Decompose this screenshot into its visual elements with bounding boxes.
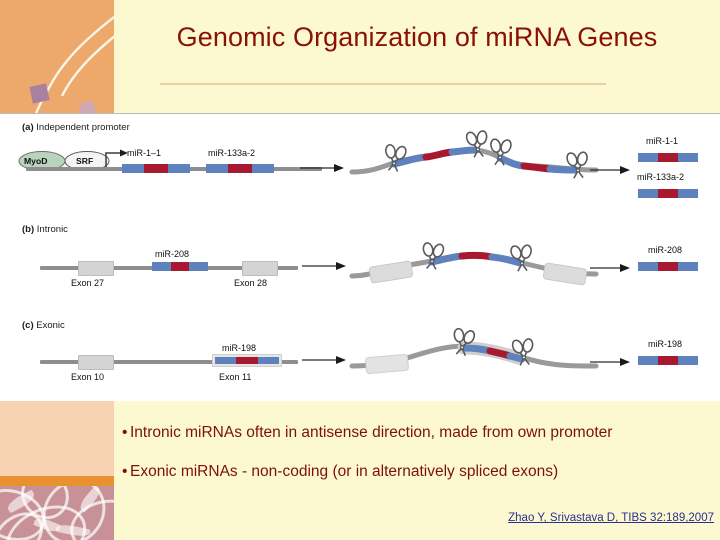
mirna-flank-left bbox=[215, 357, 236, 364]
slide-canvas: Genomic Organization of miRNA Genes (a) bbox=[0, 0, 720, 540]
ribbon-decoration bbox=[14, 8, 114, 116]
bullet-list: •Intronic miRNAs often in antisense dire… bbox=[122, 424, 712, 502]
pri-mirna-transcript-a bbox=[348, 120, 616, 196]
mirna-flank-left bbox=[206, 164, 228, 173]
product-flank-right bbox=[678, 356, 698, 365]
exon-block-28 bbox=[242, 261, 278, 276]
panel-c-heading: (c) Exonic bbox=[22, 320, 65, 331]
product-flank-left bbox=[638, 356, 658, 365]
product-core bbox=[658, 153, 678, 162]
factor-label-srf: SRF bbox=[76, 156, 93, 166]
panel-a-title: Independent promoter bbox=[36, 122, 129, 133]
product-arrow-b-icon bbox=[590, 262, 634, 274]
product-flank-right bbox=[678, 262, 698, 271]
panel-c-title: Exonic bbox=[36, 320, 65, 331]
product-label-mir-208: miR-208 bbox=[648, 245, 682, 255]
exon-label-11: Exon 11 bbox=[219, 372, 251, 382]
mirna-flank-right bbox=[258, 357, 279, 364]
product-block-mir-133a-2 bbox=[638, 189, 698, 198]
panel-a-tag: (a) bbox=[22, 122, 34, 133]
product-flank-right bbox=[678, 153, 698, 162]
mirna-core bbox=[144, 164, 168, 173]
mirna-block-mir-198 bbox=[212, 354, 282, 367]
mirna-core bbox=[236, 357, 257, 364]
product-block-mir-208 bbox=[638, 262, 698, 271]
product-core bbox=[658, 356, 678, 365]
mirna-flank-right bbox=[168, 164, 190, 173]
process-arrow-b-icon bbox=[302, 260, 350, 272]
product-block-mir-198 bbox=[638, 356, 698, 365]
product-arrow-a-icon bbox=[590, 164, 634, 176]
product-flank-left bbox=[638, 153, 658, 162]
product-label-mir-133a-2: miR-133a-2 bbox=[637, 172, 684, 182]
product-flank-left bbox=[638, 262, 658, 271]
factor-label-myod: MyoD bbox=[24, 156, 47, 166]
panel-b-heading: (b) Intronic bbox=[22, 224, 68, 235]
gene-label-mir-208: miR-208 bbox=[155, 249, 189, 259]
bullet-marker: • bbox=[122, 424, 130, 442]
citation-link[interactable]: Zhao Y, Srivastava D, TIBS 32:189,2007 bbox=[0, 512, 714, 524]
exon-block-27 bbox=[78, 261, 114, 276]
process-arrow-c-icon bbox=[302, 354, 350, 366]
mirna-block-mir-1-1 bbox=[122, 164, 190, 173]
mirna-flank-left bbox=[122, 164, 144, 173]
mirna-flank-right bbox=[252, 164, 274, 173]
product-core bbox=[658, 189, 678, 198]
mirna-flank-right bbox=[189, 262, 208, 271]
exon-block-10 bbox=[78, 355, 114, 370]
figure-panel: (a) Independent promoter MyoD SRF miR-1–… bbox=[0, 113, 720, 401]
product-label-mir-198: miR-198 bbox=[648, 339, 682, 349]
product-flank-left bbox=[638, 189, 658, 198]
exon-label-28: Exon 28 bbox=[234, 278, 267, 288]
panel-b-tag: (b) bbox=[22, 224, 34, 235]
bullet-text: Exonic miRNAs - non-coding (or in altern… bbox=[130, 463, 558, 480]
panel-b-title: Intronic bbox=[37, 224, 68, 235]
bullet-item: •Intronic miRNAs often in antisense dire… bbox=[122, 424, 712, 442]
bullet-text: Intronic miRNAs often in antisense direc… bbox=[130, 424, 612, 441]
bullet-marker: • bbox=[122, 463, 130, 481]
product-label-mir-1-1: miR-1-1 bbox=[646, 136, 678, 146]
gene-label-mir-1-1: miR-1–1 bbox=[127, 148, 161, 158]
bullet-item: •Exonic miRNAs - non-coding (or in alter… bbox=[122, 463, 712, 481]
process-arrow-a-icon bbox=[300, 162, 348, 174]
mirna-block-mir-133a-2 bbox=[206, 164, 274, 173]
title-underline-rule bbox=[160, 83, 606, 85]
exon-label-27: Exon 27 bbox=[71, 278, 104, 288]
gene-label-mir-133a-2: miR-133a-2 bbox=[208, 148, 255, 158]
panel-c-tag: (c) bbox=[22, 320, 34, 331]
sidebar-orange-band bbox=[0, 476, 114, 486]
product-arrow-c-icon bbox=[590, 356, 634, 368]
sidebar-mid-block bbox=[0, 400, 114, 478]
product-core bbox=[658, 262, 678, 271]
mirna-block-mir-208 bbox=[152, 262, 208, 271]
pri-mirna-transcript-b bbox=[348, 222, 616, 292]
product-block-mir-1-1 bbox=[638, 153, 698, 162]
panel-a-heading: (a) Independent promoter bbox=[22, 122, 130, 133]
slide-title: Genomic Organization of miRNA Genes bbox=[114, 22, 720, 53]
exon-label-10: Exon 10 bbox=[71, 372, 104, 382]
gene-label-mir-198: miR-198 bbox=[222, 343, 256, 353]
mirna-flank-left bbox=[152, 262, 171, 271]
pri-mirna-transcript-c bbox=[348, 314, 616, 384]
product-flank-right bbox=[678, 189, 698, 198]
mirna-core bbox=[171, 262, 189, 271]
accent-square-icon bbox=[29, 83, 49, 103]
mirna-core bbox=[228, 164, 252, 173]
